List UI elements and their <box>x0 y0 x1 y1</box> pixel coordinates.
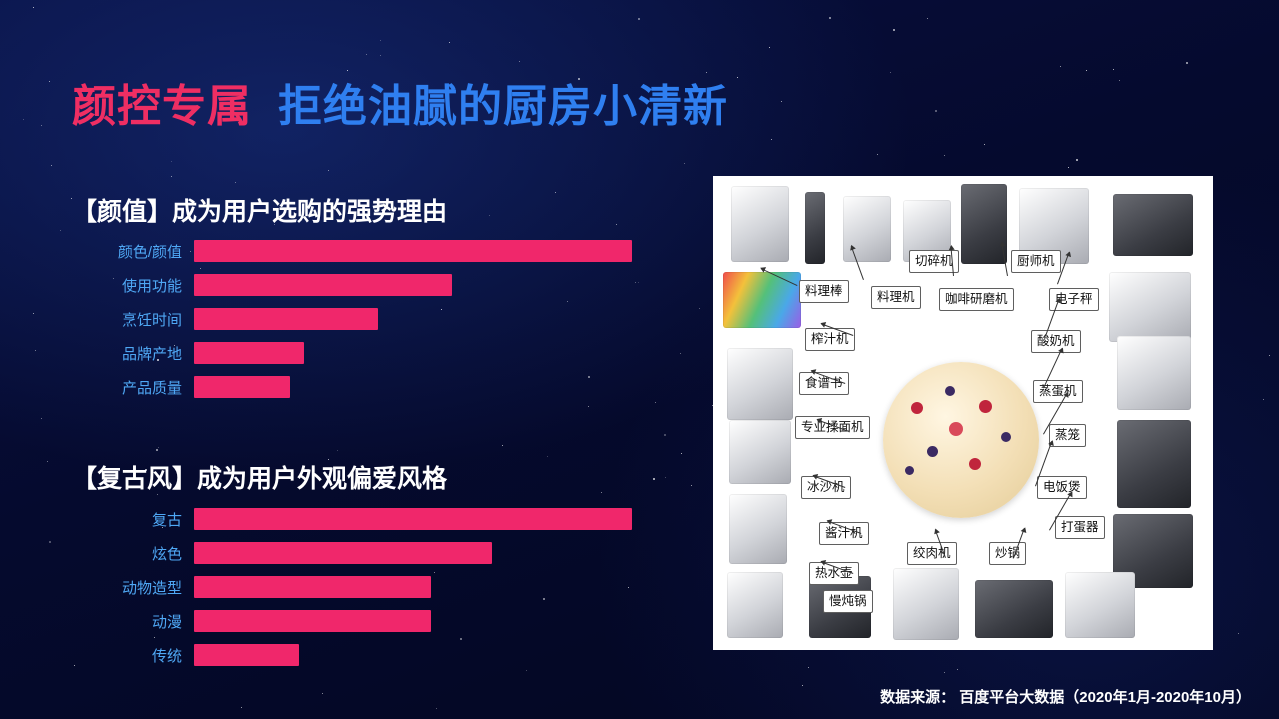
section-title-1: 【颜值】成为用户选购的强势理由 <box>72 192 447 228</box>
bar-row: 颜色/颜值 <box>72 240 632 262</box>
appliance-callout-label: 慢炖锅 <box>823 590 873 613</box>
bar-category-label: 炫色 <box>72 543 194 564</box>
bar-fill <box>194 308 378 330</box>
berry-decoration <box>979 400 992 413</box>
berry-decoration <box>945 386 955 396</box>
bar-row: 动物造型 <box>72 576 632 598</box>
bar-track <box>194 342 632 364</box>
appliance-callout-label: 绞肉机 <box>907 542 957 565</box>
bar-row: 炫色 <box>72 542 632 564</box>
bar-category-label: 使用功能 <box>72 275 194 296</box>
appliance-callout-label: 料理棒 <box>799 280 849 303</box>
appliance-callout-label: 打蛋器 <box>1055 516 1105 539</box>
bar-row: 烹饪时间 <box>72 308 632 330</box>
bar-fill <box>194 376 290 398</box>
bar-chart-appearance-reasons: 颜色/颜值使用功能烹饪时间品牌产地产品质量 <box>72 240 632 398</box>
bar-row: 品牌产地 <box>72 342 632 364</box>
appliance-photo <box>843 196 891 262</box>
berry-decoration <box>911 402 923 414</box>
bar-track <box>194 576 632 598</box>
appliance-photo <box>1117 336 1191 410</box>
bar-fill <box>194 342 304 364</box>
appliance-callout-label: 咖啡研磨机 <box>939 288 1014 311</box>
kitchen-appliance-collage: 料理棒切碎机厨师机电子秤料理机咖啡研磨机榨汁机酸奶机食谱书蒸蛋机专业揉面机蒸笼冰… <box>713 176 1213 650</box>
bar-track <box>194 376 632 398</box>
page-title: 颜控专属拒绝油腻的厨房小清新 <box>72 82 728 133</box>
berry-decoration <box>1001 432 1011 442</box>
appliance-photo <box>961 184 1007 264</box>
berry-decoration <box>969 458 981 470</box>
page-title-part-a: 颜控专属 <box>72 82 252 131</box>
bar-track <box>194 308 632 330</box>
appliance-photo <box>727 572 783 638</box>
berry-decoration <box>949 422 963 436</box>
bar-category-label: 传统 <box>72 645 194 666</box>
bar-track <box>194 542 632 564</box>
bar-category-label: 品牌产地 <box>72 343 194 364</box>
bar-row: 动漫 <box>72 610 632 632</box>
bar-fill <box>194 542 492 564</box>
bar-fill <box>194 508 632 530</box>
bar-fill <box>194 576 431 598</box>
appliance-photo <box>975 580 1053 638</box>
source-note: 数据来源： 百度平台大数据（2020年1月-2020年10月） <box>880 686 1251 707</box>
bar-fill <box>194 240 632 262</box>
appliance-callout-label: 炒锅 <box>989 542 1026 565</box>
bar-track <box>194 240 632 262</box>
bar-row: 使用功能 <box>72 274 632 296</box>
appliance-photo <box>731 186 789 262</box>
bar-row: 传统 <box>72 644 632 666</box>
appliance-callout-label: 酸奶机 <box>1031 330 1081 353</box>
page-title-part-b: 拒绝油腻的厨房小清新 <box>278 82 728 131</box>
bar-row: 复古 <box>72 508 632 530</box>
bar-track <box>194 274 632 296</box>
appliance-callout-label: 电饭煲 <box>1037 476 1087 499</box>
bar-category-label: 动物造型 <box>72 577 194 598</box>
appliance-callout-label: 厨师机 <box>1011 250 1061 273</box>
appliance-photo <box>805 192 825 264</box>
bar-fill <box>194 644 299 666</box>
appliance-photo <box>729 420 791 484</box>
appliance-callout-label: 料理机 <box>871 286 921 309</box>
food-plate-photo <box>883 362 1039 518</box>
bar-fill <box>194 274 452 296</box>
bar-category-label: 复古 <box>72 509 194 530</box>
appliance-photo <box>729 494 787 564</box>
appliance-photo <box>1113 194 1193 256</box>
appliance-photo <box>727 348 793 420</box>
appliance-callout-label: 蒸蛋机 <box>1033 380 1083 403</box>
slide-canvas: 颜控专属拒绝油腻的厨房小清新 【颜值】成为用户选购的强势理由 颜色/颜值使用功能… <box>0 0 1279 719</box>
bar-track <box>194 610 632 632</box>
berry-decoration <box>905 466 914 475</box>
bar-track <box>194 508 632 530</box>
berry-decoration <box>927 446 938 457</box>
section-title-2: 【复古风】成为用户外观偏爱风格 <box>72 459 447 495</box>
appliance-callout-label: 榨汁机 <box>805 328 855 351</box>
bar-track <box>194 644 632 666</box>
bar-chart-style-preference: 复古炫色动物造型动漫传统 <box>72 508 632 666</box>
appliance-photo <box>1117 420 1191 508</box>
bar-row: 产品质量 <box>72 376 632 398</box>
bar-category-label: 颜色/颜值 <box>72 241 194 262</box>
appliance-photo <box>1065 572 1135 638</box>
bar-category-label: 烹饪时间 <box>72 309 194 330</box>
appliance-callout-label: 专业揉面机 <box>795 416 870 439</box>
bar-fill <box>194 610 431 632</box>
appliance-photo <box>893 568 959 640</box>
bar-category-label: 动漫 <box>72 611 194 632</box>
appliance-photo <box>1109 272 1191 342</box>
bar-category-label: 产品质量 <box>72 377 194 398</box>
